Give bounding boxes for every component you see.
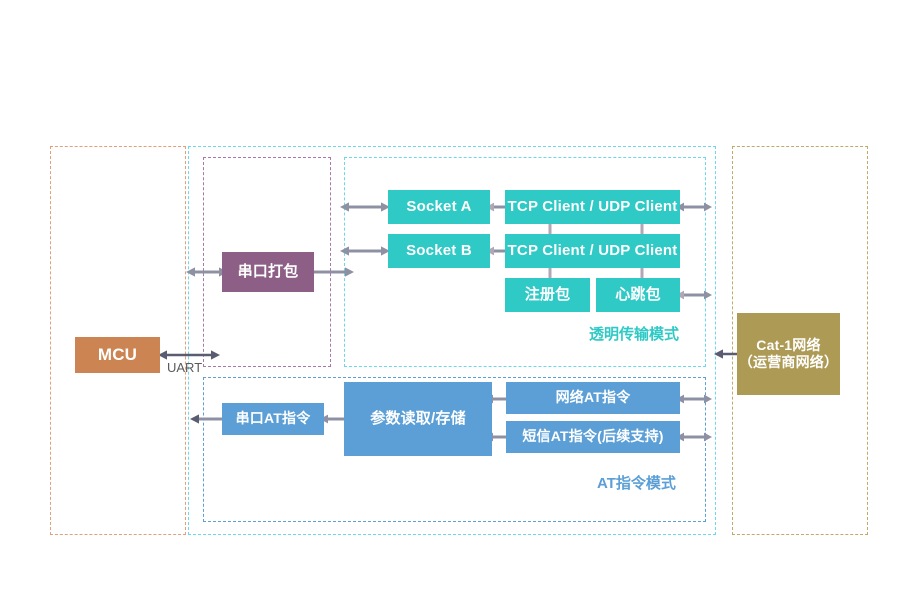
arrow-region-to-socket-b [340, 244, 390, 258]
box-tcp-client-b-label: TCP Client / UDP Client [508, 242, 678, 261]
box-socket-a-label: Socket A [406, 198, 471, 217]
box-socket-b-label: Socket B [406, 242, 472, 261]
box-param-store-label: 参数读取/存储 [370, 410, 466, 429]
label-uart: UART [167, 360, 202, 375]
box-cat1-network[interactable]: Cat-1网络 （运营商网络） [737, 313, 840, 395]
arrow-sms-at-to-network [676, 430, 712, 444]
box-cat1-network-line2: （运营商网络） [739, 354, 838, 372]
box-param-store[interactable]: 参数读取/存储 [344, 382, 492, 456]
diagram-canvas: MCU 串口打包 Socket A Socket B TCP Client / … [0, 0, 900, 589]
box-tcp-client-a-label: TCP Client / UDP Client [508, 198, 678, 217]
box-mcu[interactable]: MCU [75, 337, 160, 373]
box-uart-pack[interactable]: 串口打包 [222, 252, 314, 292]
arrow-region-to-socket-a [340, 200, 390, 214]
box-heartbeat-packet-label: 心跳包 [615, 286, 661, 305]
arrow-tcp-a-to-network [676, 200, 712, 214]
box-network-at-command-label: 网络AT指令 [556, 389, 631, 407]
box-serial-at-command-label: 串口AT指令 [236, 410, 311, 428]
box-socket-a[interactable]: Socket A [388, 190, 490, 224]
box-tcp-client-b[interactable]: TCP Client / UDP Client [505, 234, 680, 268]
label-at-mode: AT指令模式 [597, 472, 676, 493]
box-serial-at-command[interactable]: 串口AT指令 [222, 403, 324, 435]
box-register-packet-label: 注册包 [525, 286, 571, 305]
box-register-packet[interactable]: 注册包 [505, 278, 590, 312]
arrow-network-at-to-network [676, 392, 712, 406]
box-mcu-label: MCU [98, 344, 137, 365]
box-network-at-command[interactable]: 网络AT指令 [506, 382, 680, 414]
box-sms-at-command[interactable]: 短信AT指令(后续支持) [506, 421, 680, 453]
label-transparent-mode: 透明传输模式 [589, 323, 679, 344]
box-heartbeat-packet[interactable]: 心跳包 [596, 278, 680, 312]
box-uart-pack-label: 串口打包 [238, 263, 299, 282]
box-tcp-client-a[interactable]: TCP Client / UDP Client [505, 190, 680, 224]
box-socket-b[interactable]: Socket B [388, 234, 490, 268]
box-cat1-network-line1: Cat-1网络 [756, 337, 820, 355]
box-sms-at-command-label: 短信AT指令(后续支持) [522, 428, 663, 446]
arrow-heartbeat-to-network [676, 288, 712, 302]
